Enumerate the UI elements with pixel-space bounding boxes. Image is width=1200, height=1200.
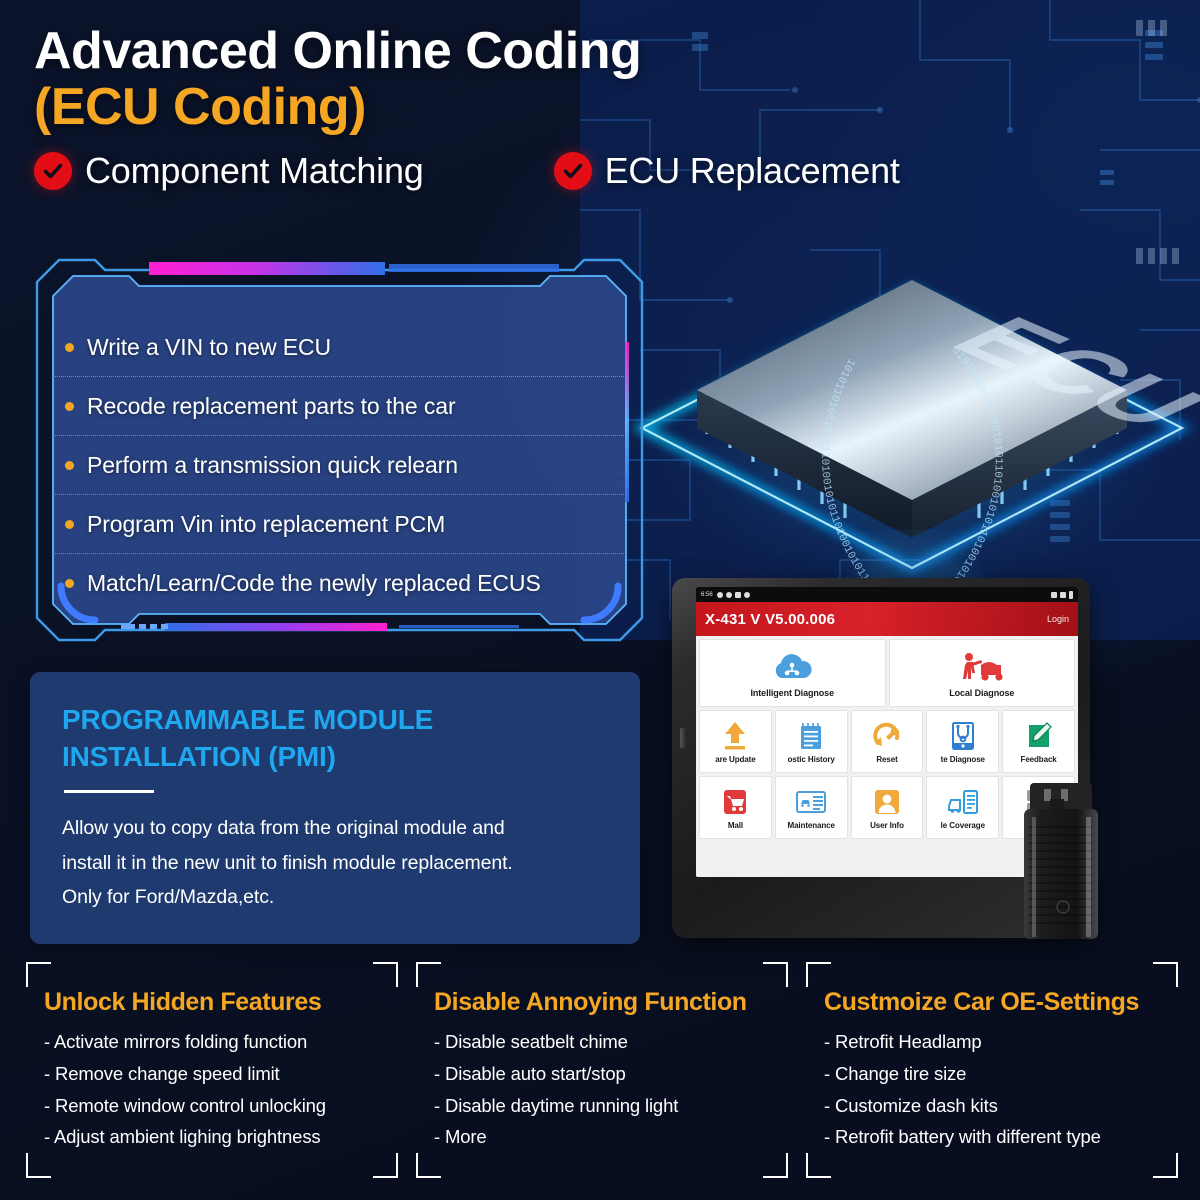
card-disable-annoying-function: Disable Annoying Function - Disable seat… bbox=[416, 962, 788, 1178]
ecu-chip-illustration: ECU 101011010010101101001010110100101011… bbox=[612, 238, 1200, 628]
list-item: - Disable seatbelt chime bbox=[434, 1026, 772, 1058]
bottom-cards: Unlock Hidden Features - Activate mirror… bbox=[26, 962, 1178, 1178]
reset-wrench-icon bbox=[872, 720, 902, 752]
tile-row-2: are Update bbox=[699, 710, 1075, 773]
corner-bracket-tl bbox=[416, 962, 441, 987]
tile-local-diagnose[interactable]: Local Diagnose bbox=[889, 639, 1076, 707]
list-item: - Change tire size bbox=[824, 1058, 1162, 1090]
bullet-list-container: Write a VIN to new ECU Recode replacemen… bbox=[55, 308, 624, 600]
device-group: 6:56 X-431 V V5.00.006 bbox=[672, 578, 1102, 948]
bullet-list: Write a VIN to new ECU Recode replacemen… bbox=[55, 318, 624, 613]
list-item: Write a VIN to new ECU bbox=[55, 318, 624, 377]
shopping-cart-icon bbox=[721, 786, 749, 818]
feature-heading-2: ECU Replacement bbox=[554, 150, 900, 192]
bullet-dot-icon bbox=[65, 520, 74, 529]
list-item: - Customize dash kits bbox=[824, 1090, 1162, 1122]
corner-bracket-tr bbox=[763, 962, 788, 987]
corner-bracket-bl bbox=[806, 1153, 831, 1178]
status-time: 6:56 bbox=[701, 592, 713, 598]
card-unlock-hidden-features: Unlock Hidden Features - Activate mirror… bbox=[26, 962, 398, 1178]
app-title: X-431 V V5.00.006 bbox=[705, 611, 835, 628]
card-customize-car-oe-settings: Custmoize Car OE-Settings - Retrofit Hea… bbox=[806, 962, 1178, 1178]
bullet-dot-icon bbox=[65, 402, 74, 411]
card-title: Unlock Hidden Features bbox=[44, 988, 382, 1017]
feature-heading-2-label: ECU Replacement bbox=[605, 150, 900, 192]
signal-icon bbox=[1060, 592, 1066, 598]
list-item: - Disable auto start/stop bbox=[434, 1058, 772, 1090]
corner-bracket-tl bbox=[806, 962, 831, 987]
list-item: - Adjust ambient lighing brightness bbox=[44, 1121, 382, 1153]
login-button[interactable]: Login bbox=[1047, 614, 1069, 624]
feature-headings: Component Matching ECU Replacement bbox=[34, 150, 1174, 192]
list-item: - Retrofit battery with different type bbox=[824, 1121, 1162, 1153]
cloud-diagnose-icon bbox=[770, 649, 814, 685]
corner-bracket-tr bbox=[1153, 962, 1178, 987]
card-title: Disable Annoying Function bbox=[434, 988, 772, 1017]
list-item: Perform a transmission quick relearn bbox=[55, 436, 624, 495]
page-title-line1: Advanced Online Coding bbox=[34, 22, 1174, 80]
stethoscope-icon bbox=[950, 720, 976, 752]
tile-diagnostic-history[interactable]: ostic History bbox=[775, 710, 848, 773]
pencil-note-icon bbox=[1025, 720, 1053, 752]
tile-feedback[interactable]: Feedback bbox=[1002, 710, 1075, 773]
corner-bracket-tl bbox=[26, 962, 51, 987]
list-item: - Remove change speed limit bbox=[44, 1058, 382, 1090]
header: Advanced Online Coding (ECU Coding) Comp… bbox=[34, 22, 1174, 192]
card-list: - Disable seatbelt chime - Disable auto … bbox=[434, 1026, 772, 1153]
bullet-dot-icon bbox=[65, 343, 74, 352]
sync-icon bbox=[744, 592, 750, 598]
car-list-icon bbox=[795, 786, 827, 818]
tile-remote-diagnose[interactable]: te Diagnose bbox=[926, 710, 999, 773]
check-circle-icon-2 bbox=[554, 152, 592, 190]
bullet-dot-icon bbox=[65, 461, 74, 470]
tile-reset[interactable]: Reset bbox=[851, 710, 924, 773]
page-title-line2: (ECU Coding) bbox=[34, 78, 1174, 136]
list-item: - Retrofit Headlamp bbox=[824, 1026, 1162, 1058]
check-circle-icon bbox=[34, 152, 72, 190]
wifi-icon bbox=[1051, 592, 1057, 598]
tile-vehicle-coverage[interactable]: le Coverage bbox=[926, 776, 999, 839]
poster-root: ECU 101011010010101101001010110100101011… bbox=[0, 0, 1200, 1200]
tile-software-update[interactable]: are Update bbox=[699, 710, 772, 773]
user-avatar-icon bbox=[873, 786, 901, 818]
corner-bracket-bl bbox=[26, 1153, 51, 1178]
sd-card-icon bbox=[735, 592, 741, 598]
corner-bracket-br bbox=[373, 1153, 398, 1178]
mechanic-car-icon bbox=[959, 649, 1005, 685]
tile-mall[interactable]: Mall bbox=[699, 776, 772, 839]
card-list: - Activate mirrors folding function - Re… bbox=[44, 1026, 382, 1153]
tile-user-info[interactable]: User Info bbox=[851, 776, 924, 839]
list-item: - Remote window control unlocking bbox=[44, 1090, 382, 1122]
settings-icon bbox=[717, 592, 723, 598]
list-item: Match/Learn/Code the newly replaced ECUS bbox=[55, 554, 624, 613]
card-list: - Retrofit Headlamp - Change tire size -… bbox=[824, 1026, 1162, 1153]
feature-heading-1-label: Component Matching bbox=[85, 150, 424, 192]
corner-bracket-bl bbox=[416, 1153, 441, 1178]
corner-bracket-br bbox=[763, 1153, 788, 1178]
vehicle-coverage-icon bbox=[947, 786, 979, 818]
upload-arrow-icon bbox=[722, 720, 748, 752]
list-item: - Activate mirrors folding function bbox=[44, 1026, 382, 1058]
corner-bracket-tr bbox=[373, 962, 398, 987]
pmi-body: Allow you to copy data from the original… bbox=[62, 811, 606, 915]
tile-maintenance[interactable]: Maintenance bbox=[775, 776, 848, 839]
list-item: - Disable daytime running light bbox=[434, 1090, 772, 1122]
list-item: Recode replacement parts to the car bbox=[55, 377, 624, 436]
android-status-bar: 6:56 bbox=[696, 587, 1078, 602]
tile-row-1: Intelligent Diagnose bbox=[699, 639, 1075, 707]
tile-row-3: Mall bbox=[699, 776, 1075, 839]
feature-heading-1: Component Matching bbox=[34, 150, 424, 192]
pmi-divider bbox=[64, 790, 154, 793]
location-icon bbox=[726, 592, 732, 598]
battery-icon bbox=[1069, 591, 1073, 599]
pmi-card: PROGRAMMABLE MODULE INSTALLATION (PMI) A… bbox=[30, 672, 640, 944]
list-item: - More bbox=[434, 1121, 772, 1153]
card-title: Custmoize Car OE-Settings bbox=[824, 988, 1162, 1017]
list-item: Program Vin into replacement PCM bbox=[55, 495, 624, 554]
notepad-icon bbox=[798, 720, 824, 752]
app-title-bar: X-431 V V5.00.006 Login bbox=[696, 602, 1078, 636]
bullet-panel: Write a VIN to new ECU Recode replacemen… bbox=[33, 256, 646, 644]
corner-bracket-br bbox=[1153, 1153, 1178, 1178]
bullet-dot-icon bbox=[65, 579, 74, 588]
tile-intelligent-diagnose[interactable]: Intelligent Diagnose bbox=[699, 639, 886, 707]
pmi-title: PROGRAMMABLE MODULE INSTALLATION (PMI) bbox=[62, 702, 606, 776]
obd2-connector bbox=[1020, 783, 1104, 943]
